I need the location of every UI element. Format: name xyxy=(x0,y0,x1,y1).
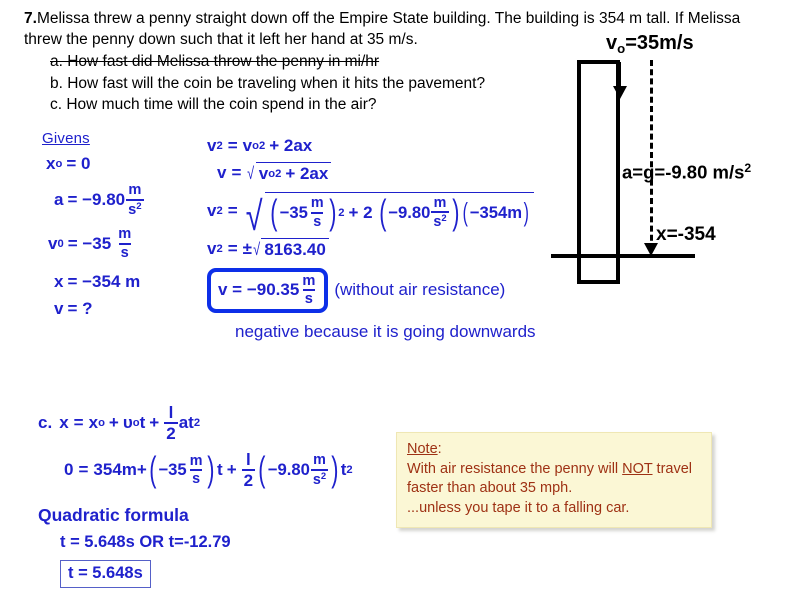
given-x0-var: x xyxy=(46,154,55,174)
given-x-value: = −354 m xyxy=(67,272,140,292)
diagram-label-acceleration: a=g=-9.80 m/s2 xyxy=(622,161,751,183)
paren-close-icon: ) xyxy=(524,204,529,222)
boxed-velocity-units: m s xyxy=(300,274,317,307)
equation-kinematic: v2 = vo2 + 2ax xyxy=(207,136,536,156)
partc2-term2-den-sup: 2 xyxy=(321,471,326,482)
note-emphasis-not: NOT xyxy=(622,461,652,477)
question-item-a: a. How fast did Melissa throw the penny … xyxy=(50,51,485,73)
partc2-half-den: 2 xyxy=(242,469,255,489)
downwards-explanation-note: negative because it is going downwards xyxy=(235,322,536,342)
note-heading: Note: xyxy=(407,440,701,460)
note-line1-c: travel xyxy=(653,461,693,477)
given-x0: xo = 0 xyxy=(46,154,145,174)
partc-t1: t xyxy=(140,413,146,433)
eq3-term2-den: s2 xyxy=(431,211,448,229)
partc-x0-var: x xyxy=(89,413,98,433)
given-v0-value: = −35 xyxy=(68,234,112,254)
eq3-plus: + 2 xyxy=(349,203,373,223)
given-v0-sub: 0 xyxy=(57,238,63,250)
boxed-velocity-den: s xyxy=(303,289,315,307)
partc2-term2: ( −9.80 m s2 ) xyxy=(256,453,341,487)
given-x0-value: = 0 xyxy=(66,154,90,174)
given-x0-sub: o xyxy=(55,158,62,170)
fall-path-dashed-line xyxy=(650,60,653,250)
diagram-label-displacement: x=-354 xyxy=(656,224,716,246)
eq3-radical: √ ( −35 m s ) 2 + 2 ( xyxy=(243,192,534,230)
partc-equation-displacement: c. x = xo + υot + l 2 at2 xyxy=(38,404,353,442)
eq4-equals: = xyxy=(228,239,238,259)
given-v-value: = ? xyxy=(67,299,92,319)
eq3-term3-inner: −354m xyxy=(470,203,522,223)
note-line-1: With air resistance the penny will NOT t… xyxy=(407,460,701,480)
eq4-lhs-sup: 2 xyxy=(216,243,222,255)
diagram-label-initial-velocity: vo=35m/s xyxy=(606,32,694,56)
partc-equals: = xyxy=(74,413,84,433)
partc-plus1: + xyxy=(109,413,119,433)
partc2-term2-num: m xyxy=(311,453,328,468)
partc2-term1-num: m xyxy=(188,454,205,469)
partc2-plus1: + xyxy=(137,460,147,480)
partc2-plus2: + xyxy=(227,460,237,480)
eq4-lhs: v xyxy=(207,239,216,259)
eq3-term2-inner: −9.80 m s2 xyxy=(388,196,449,230)
boxed-velocity-text: v = −90.35 xyxy=(218,280,299,300)
partc-equation-substituted: 0 = 354m + ( −35 m s ) t + l 2 ( −9.80 xyxy=(64,451,353,489)
partc-half-den: 2 xyxy=(164,422,177,442)
eq3-term1-den: s xyxy=(311,212,323,229)
eq3-term2-num: m xyxy=(432,196,449,211)
eq2-rad-sup: 2 xyxy=(275,168,281,180)
paren-close-icon: ) xyxy=(331,457,338,482)
partc2-term2-units: m s2 xyxy=(311,453,328,487)
eq3-lhs-sup: 2 xyxy=(216,205,222,217)
diagram-v0-var: v xyxy=(606,32,617,54)
eq3-term1-inner: −35 m s xyxy=(280,196,327,229)
partc-x: x xyxy=(59,413,68,433)
given-a-unit-den: s2 xyxy=(126,199,144,218)
given-v0-units: m s xyxy=(116,227,133,260)
partc2-lhs: 0 xyxy=(64,460,73,480)
partc-at-sup: 2 xyxy=(194,417,200,429)
given-a-unit-num: m xyxy=(126,183,143,199)
partc2-term1-units: m s xyxy=(188,454,205,487)
diagram-v0-rest: =35m/s xyxy=(625,32,693,54)
eq2-radicand: vo2 + 2ax xyxy=(256,162,332,184)
diagram-accel-text: a=g=-9.80 m/s xyxy=(622,161,744,182)
note-callout: Note: With air resistance the penny will… xyxy=(396,432,712,528)
eq3-radicand: ( −35 m s ) 2 + 2 ( −9.80 xyxy=(265,192,534,230)
boxed-time-answer: t = 5.648s xyxy=(60,560,151,588)
initial-velocity-arrow-icon xyxy=(613,86,627,99)
given-v: v = ? xyxy=(54,299,145,319)
partc2-equals: = xyxy=(78,460,88,480)
partc-half-num: l xyxy=(167,404,176,422)
given-a: a = −9.80 m s2 xyxy=(54,183,145,217)
eq4-radicand: 8163.40 xyxy=(261,238,328,260)
partc2-t1: t xyxy=(217,460,223,480)
work-equations: v2 = vo2 + 2ax v = √ vo2 + 2ax v2 = √ ( … xyxy=(207,136,536,342)
partc2-term1-value: −35 xyxy=(158,460,186,480)
quadratic-roots: t = 5.648s OR t=-12.79 xyxy=(60,533,231,552)
eq2-equals: = xyxy=(231,163,241,183)
givens-title: Givens xyxy=(42,130,145,147)
partc2-term1: ( −35 m s ) xyxy=(147,454,217,487)
eq1-rhs-sup: 2 xyxy=(259,140,265,152)
quadratic-result-block: Quadratic formula t = 5.648s OR t=-12.79… xyxy=(38,505,231,588)
partc2-t2-sup: 2 xyxy=(346,464,352,476)
equation-solved-for-v: v = √ vo2 + 2ax xyxy=(217,162,536,184)
diagram-accel-sup: 2 xyxy=(744,161,751,175)
eq1-tail: + 2ax xyxy=(269,136,312,156)
partc2-half-fraction: l 2 xyxy=(242,451,255,489)
eq3-term2-units: m s2 xyxy=(431,196,448,230)
boxed-velocity-answer: v = −90.35 m s xyxy=(207,268,328,313)
partc2-half-num: l xyxy=(244,451,253,469)
note-colon: : xyxy=(438,441,442,457)
eq3-term2: ( −9.80 m s2 ) xyxy=(377,196,462,230)
partc-prefix: c. xyxy=(38,413,52,433)
eq3-term3: ( −354m ) xyxy=(461,203,530,223)
given-a-units: m s2 xyxy=(126,183,144,217)
eq3-term2-value: −9.80 xyxy=(388,203,430,223)
eq1-lhs: v xyxy=(207,136,216,156)
eq3-term1-units: m s xyxy=(309,196,326,229)
eq3-lhs: v xyxy=(207,201,216,221)
eq3-equals: = xyxy=(228,201,238,221)
boxed-velocity-num: m xyxy=(300,274,317,290)
eq3-term1-num: m xyxy=(309,196,326,211)
radical-sign-icon: √ xyxy=(245,204,262,229)
given-a-value: = −9.80 xyxy=(67,190,125,210)
partc2-x-value: 354m xyxy=(93,460,136,480)
equation-numeric-root: v2 = ± √ 8163.40 xyxy=(207,238,536,260)
paren-close-icon: ) xyxy=(329,200,336,225)
eq3-term1: ( −35 m s ) xyxy=(268,196,338,229)
without-air-resistance-note: (without air resistance) xyxy=(334,280,505,300)
eq2-lhs: v xyxy=(217,163,226,183)
eq4-plusminus: ± xyxy=(243,239,252,259)
eq2-rad-tail: + 2ax xyxy=(285,164,328,184)
partc-v0-sub: o xyxy=(133,417,140,429)
partc2-term2-den: s2 xyxy=(311,469,328,487)
eq1-rhs-var: v xyxy=(243,136,252,156)
ground-line xyxy=(551,254,695,258)
radical-sign-icon: √ xyxy=(248,164,255,184)
quadratic-formula-label: Quadratic formula xyxy=(38,505,231,526)
partc-half-fraction: l 2 xyxy=(164,404,177,442)
eq2-rad-var: v xyxy=(259,164,268,184)
eq3-term1-value: −35 xyxy=(280,203,308,223)
diagram-v0-sub: o xyxy=(617,41,625,56)
part-c-work: c. x = xo + υot + l 2 at2 0 = 354m + ( −… xyxy=(38,404,353,489)
paren-close-icon: ) xyxy=(452,200,459,225)
paren-open-icon: ( xyxy=(258,457,265,482)
paren-open-icon: ( xyxy=(149,457,156,482)
paren-close-icon: ) xyxy=(208,457,215,482)
paren-open-icon: ( xyxy=(379,200,386,225)
eq3-term1-exp: 2 xyxy=(338,207,344,219)
partc2-term1-den: s xyxy=(190,469,202,486)
question-list: a. How fast did Melissa throw the penny … xyxy=(50,51,485,116)
boxed-velocity-row: v = −90.35 m s (without air resistance) xyxy=(207,268,536,313)
eq4-radical: √ 8163.40 xyxy=(252,238,329,260)
given-x-var: x xyxy=(54,272,63,292)
partc-plus2: + xyxy=(149,413,159,433)
partc2-term2-inner: −9.80 m s2 xyxy=(268,453,329,487)
partc2-term1-inner: −35 m s xyxy=(158,454,205,487)
eq3-term2-den-sup: 2 xyxy=(441,213,446,224)
note-line-3: ...unless you tape it to a falling car. xyxy=(407,499,701,519)
question-item-b: b. How fast will the coin be traveling w… xyxy=(50,73,485,95)
given-v-var: v xyxy=(54,299,63,319)
givens-block: Givens xo = 0 a = −9.80 m s2 v0 = −35 m … xyxy=(42,130,145,319)
partc-v0-var: υ xyxy=(123,413,133,433)
eq1-equals: = xyxy=(228,136,238,156)
eq1-lhs-sup: 2 xyxy=(216,140,222,152)
given-a-var: a xyxy=(54,190,63,210)
note-label: Note xyxy=(407,441,438,457)
note-line1-a: With air resistance the penny will xyxy=(407,461,622,477)
eq2-rad-sub: o xyxy=(268,168,275,180)
problem-number: 7. xyxy=(24,10,37,27)
radical-sign-icon: √ xyxy=(253,240,260,260)
building-diagram: vo=35m/s a=g=-9.80 m/s2 x=-354 xyxy=(540,30,800,270)
equation-substituted: v2 = √ ( −35 m s ) 2 + 2 xyxy=(207,192,536,230)
eq2-radical: √ vo2 + 2ax xyxy=(246,162,331,184)
partc-at: at xyxy=(179,413,194,433)
question-item-c: c. How much time will the coin spend in … xyxy=(50,94,485,116)
paren-open-icon: ( xyxy=(463,204,468,222)
note-line-2: faster than about 35 mph. xyxy=(407,479,701,499)
given-v0-unit-den: s xyxy=(119,243,131,261)
given-v0: v0 = −35 m s xyxy=(48,227,145,260)
partc-x0-sub: o xyxy=(98,417,105,429)
eq1-rhs-sub: o xyxy=(252,140,259,152)
given-x: x = −354 m xyxy=(54,272,145,292)
given-v0-unit-num: m xyxy=(116,227,133,243)
given-v0-var: v xyxy=(48,234,57,254)
given-a-unit-den-sup: 2 xyxy=(136,201,141,212)
paren-open-icon: ( xyxy=(270,200,277,225)
partc2-term2-value: −9.80 xyxy=(268,460,310,480)
partc2-term2-den-text: s xyxy=(313,471,321,487)
